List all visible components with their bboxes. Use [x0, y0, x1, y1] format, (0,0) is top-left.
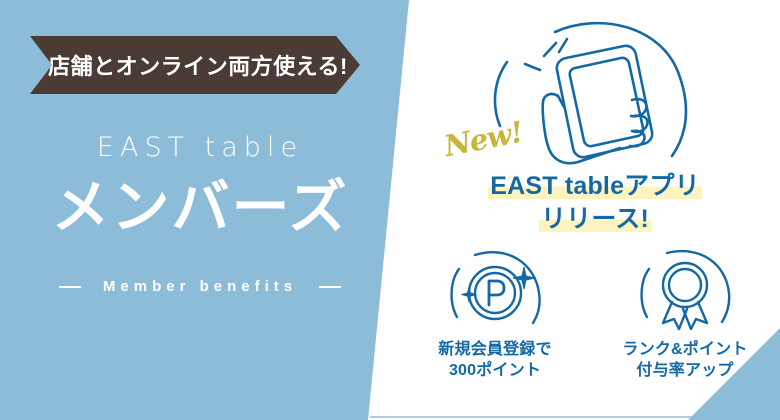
dash-right-icon	[319, 286, 341, 288]
member-benefits-subline: Member benefits	[0, 278, 400, 295]
promo-ribbon: 店舗とオンライン両方使える!	[30, 36, 360, 94]
member-benefits-banner: 店舗とオンライン両方使える! EAST table メンバーズ Member b…	[0, 0, 780, 420]
award-rosette-icon	[627, 245, 743, 337]
member-benefits-label: Member benefits	[103, 278, 297, 295]
left-column: 店舗とオンライン両方使える! EAST table メンバーズ Member b…	[0, 0, 400, 420]
app-release-copy-line2: リリース!	[539, 205, 651, 233]
brand-name-jp: メンバーズ	[0, 178, 400, 239]
feature-item-signup-points: 新規会員登録で 300ポイント	[400, 245, 590, 415]
app-release-copy-line1: EAST tableアプリ	[488, 172, 702, 200]
feature-list: 新規会員登録で 300ポイント ランク&ポイント 付与率アップ	[400, 245, 780, 415]
app-release-hero: New! EAST tableアプリ リリース!	[430, 10, 760, 235]
feature-item-signup-points-label: 新規会員登録で 300ポイント	[438, 339, 551, 381]
feature-item-rank-bonus-label: ランク&ポイント 付与率アップ	[622, 339, 747, 381]
promo-ribbon-label: 店舗とオンライン両方使える!	[42, 49, 348, 81]
feature-item-rank-bonus: ランク&ポイント 付与率アップ	[590, 245, 780, 415]
app-release-copy: EAST tableアプリ リリース!	[430, 170, 760, 236]
point-coin-icon	[437, 245, 553, 337]
brand-name-en: EAST table	[0, 132, 400, 163]
dash-left-icon	[59, 286, 81, 288]
